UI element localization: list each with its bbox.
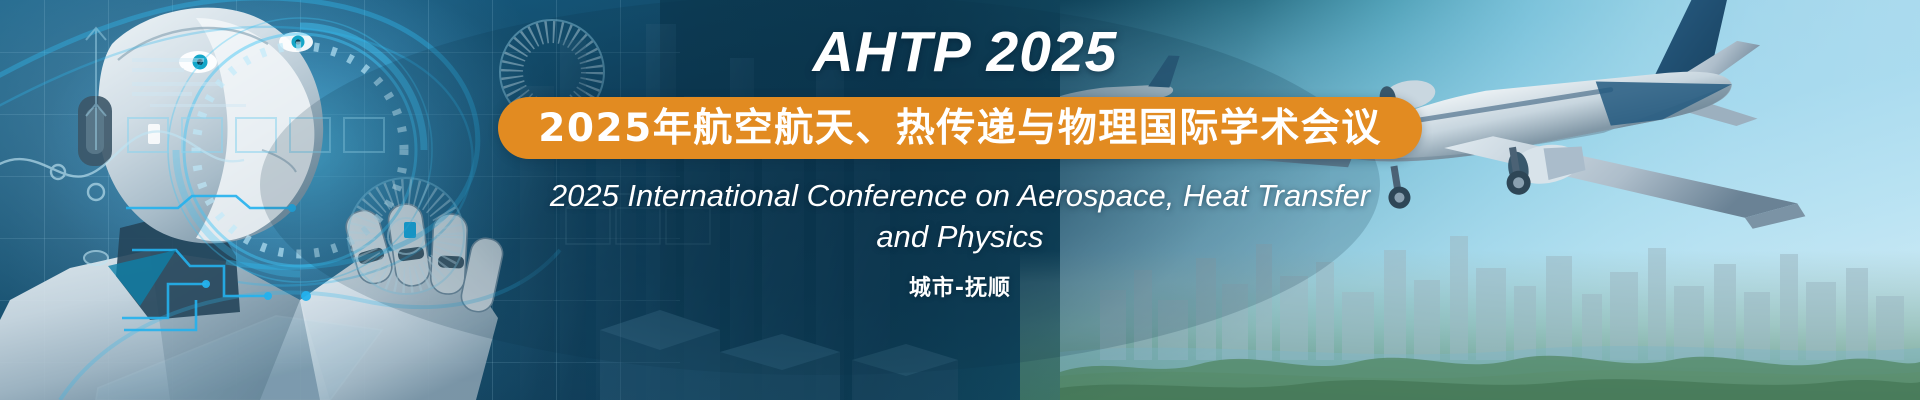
conference-banner: AHTP 2025 2025年航空航天、热传递与物理国际学术会议 2025 In…	[0, 0, 1920, 400]
chinese-title-text: 2025年航空航天、热传递与物理国际学术会议	[538, 109, 1382, 148]
chinese-title-pill: 2025年航空航天、热传递与物理国际学术会议	[498, 97, 1422, 159]
banner-content: AHTP 2025 2025年航空航天、热传递与物理国际学术会议 2025 In…	[0, 0, 1920, 400]
city-label: 城市-抚顺	[909, 270, 1011, 302]
english-subtitle-line-2: and Physics	[876, 219, 1043, 254]
conference-acronym-title: AHTP 2025	[803, 24, 1118, 81]
english-subtitle: 2025 International Conference on Aerospa…	[550, 175, 1370, 257]
english-subtitle-line-1: 2025 International Conference on Aerospa…	[550, 178, 1370, 213]
